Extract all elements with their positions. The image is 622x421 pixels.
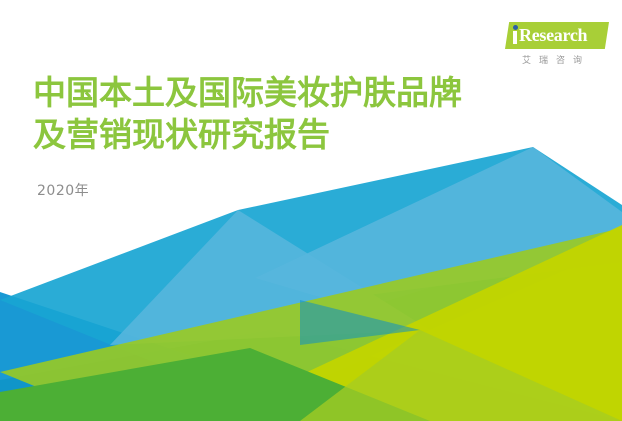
page-title-line-2: 及营销现状研究报告 <box>33 114 553 156</box>
logo-chinese-name: 艾瑞咨询 <box>507 53 605 66</box>
report-year: 2020年 <box>37 180 89 200</box>
page-title-line-1: 中国本土及国际美妆护肤品牌 <box>33 72 553 114</box>
logo-i-dot-icon <box>513 25 518 30</box>
page-title: 中国本土及国际美妆护肤品牌 及营销现状研究报告 <box>33 72 553 156</box>
logo-wordmark: Research <box>519 25 605 46</box>
report-cover-page: Research 艾瑞咨询 中国本土及国际美妆护肤品牌 及营销现状研究报告 20… <box>0 0 622 421</box>
iresearch-logo: Research 艾瑞咨询 <box>497 22 609 70</box>
logo-letter-i <box>513 31 517 44</box>
